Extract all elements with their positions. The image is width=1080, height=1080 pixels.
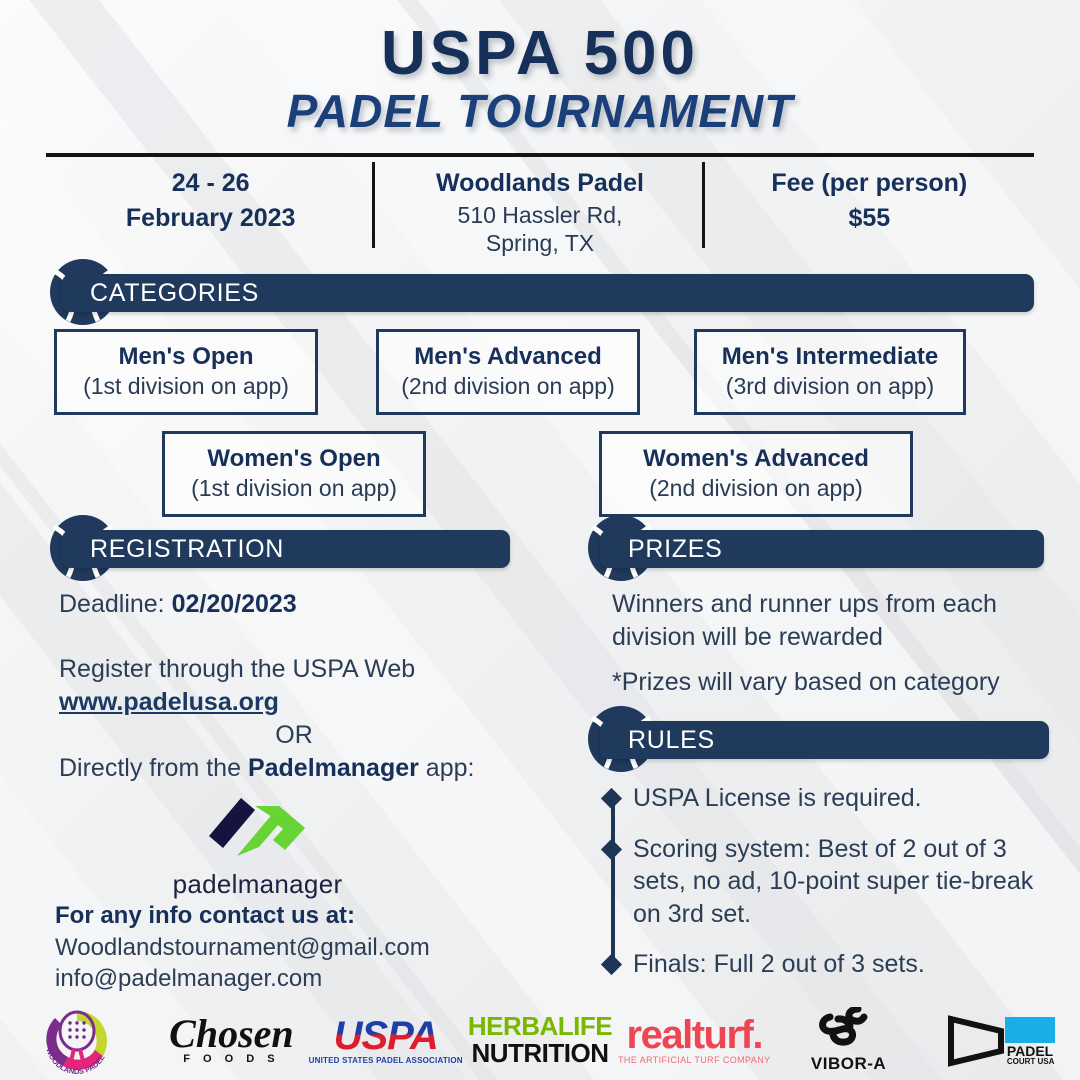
poster-header: USPA 500 PADEL TOURNAMENT [0,22,1080,136]
registration-heading: REGISTRATION [62,535,284,564]
rule-text: Scoring system: Best of 2 out of 3 sets,… [633,833,1052,931]
contact-email-2[interactable]: info@padelmanager.com [55,963,525,995]
category-card-womens-advanced[interactable]: Women's Advanced (2nd division on app) [599,431,913,517]
registration-deadline-row: Deadline: 02/20/2023 [59,588,529,621]
sponsor-logo-padel-court-usa: PADEL COURT USA [926,1000,1080,1080]
app-line-pre: Directly from the [59,754,248,782]
register-instruction: Register through the USPA Web [59,653,529,686]
venue-address-1: 510 Hassler Rd, [381,201,698,230]
category-name: Men's Intermediate [697,342,963,372]
registration-website-link[interactable]: www.padelusa.org [59,686,529,719]
herbalife-wordmark: HERBALIFE [468,1013,612,1040]
website-url: www.padelusa.org [59,688,279,716]
realturf-wordmark: realturf. [618,1015,770,1055]
contact-block: For any info contact us at: Woodlandstou… [55,900,525,995]
prizes-line-1: Winners and runner ups from each [612,588,1052,621]
padelmanager-wordmark: padelmanager [150,869,365,900]
sponsor-logo-vibor-a: VIBOR-A [771,1000,925,1080]
info-bar: 24 - 26 February 2023 Woodlands Padel 51… [46,153,1034,258]
info-bar-divider [46,153,1034,157]
rules-list: USPA License is required. Scoring system… [604,782,1052,999]
registration-body: Deadline: 02/20/2023 Register through th… [59,588,529,785]
category-name: Men's Advanced [379,342,637,372]
registration-section-header: REGISTRATION [62,530,510,568]
padel-court-usa-wordmark: PADEL [1007,1044,1055,1058]
info-col-fee: Fee (per person) $55 [705,166,1034,258]
sponsor-logo-chosen-foods: Chosen F O O D S [154,1000,308,1080]
chosen-foods-wordmark: Chosen [169,1015,294,1053]
rules-section-header: RULES [600,721,1049,759]
uspa-wordmark: USPA [309,1016,463,1056]
category-card-mens-open[interactable]: Men's Open (1st division on app) [54,329,318,415]
venue-name: Woodlands Padel [381,166,698,201]
prizes-section-header: PRIZES [600,530,1044,568]
venue-address-2: Spring, TX [381,229,698,258]
uspa-subtext: UNITED STATES PADEL ASSOCIATION [309,1056,463,1065]
rule-text: Finals: Full 2 out of 3 sets. [633,948,925,981]
realturf-subtext: THE ARTIFICIAL TURF COMPANY [618,1055,770,1065]
vibor-a-wordmark: VIBOR-A [811,1054,886,1074]
diamond-bullet-icon [601,788,622,809]
padelmanager-logo: padelmanager [150,790,365,900]
app-name: Padelmanager [248,754,419,782]
category-division: (2nd division on app) [379,372,637,402]
info-col-venue: Woodlands Padel 510 Hassler Rd, Spring, … [375,166,704,258]
rule-item: Scoring system: Best of 2 out of 3 sets,… [604,833,1052,931]
deadline-label: Deadline: [59,590,172,618]
prizes-note: *Prizes will vary based on category [612,666,1052,699]
padel-court-usa-subtext: COURT USA [1007,1058,1055,1066]
or-separator: OR [59,719,529,752]
category-card-mens-intermediate[interactable]: Men's Intermediate (3rd division on app) [694,329,966,415]
page-title: USPA 500 [0,22,1080,85]
woodlands-padel-logo-icon: WOODLANDS PADEL [38,1003,116,1077]
prizes-heading: PRIZES [600,535,723,564]
category-name: Women's Advanced [602,444,910,474]
chosen-foods-subtext: F O O D S [169,1053,294,1065]
rule-item: USPA License is required. [604,782,1052,815]
date-month-year: February 2023 [52,201,369,236]
date-range: 24 - 26 [52,166,369,201]
app-line-post: app: [419,754,475,782]
info-col-dates: 24 - 26 February 2023 [46,166,375,258]
category-division: (1st division on app) [57,372,315,402]
fee-label: Fee (per person) [711,166,1028,201]
category-division: (2nd division on app) [602,474,910,504]
diamond-bullet-icon [601,838,622,859]
page-subtitle: PADEL TOURNAMENT [0,87,1080,135]
diamond-bullet-icon [601,954,622,975]
rules-heading: RULES [600,726,715,755]
contact-heading: For any info contact us at: [55,900,525,932]
sponsor-logo-realturf: realturf. THE ARTIFICIAL TURF COMPANY [617,1000,771,1080]
prizes-body: Winners and runner ups from each divisio… [612,588,1052,699]
vibor-a-snake-icon [818,1007,880,1051]
category-name: Women's Open [165,444,423,474]
sponsor-footer: WOODLANDS PADEL Chosen F O O D S USPA UN… [0,1000,1080,1080]
categories-section-header: CATEGORIES [62,274,1034,312]
herbalife-subtext: NUTRITION [468,1040,612,1067]
category-division: (1st division on app) [165,474,423,504]
sponsor-logo-woodlands-padel: WOODLANDS PADEL [0,1000,154,1080]
padelmanager-mark-icon [193,790,323,862]
rule-item: Finals: Full 2 out of 3 sets. [604,948,1052,981]
category-card-mens-advanced[interactable]: Men's Advanced (2nd division on app) [376,329,640,415]
contact-email-1[interactable]: Woodlandstournament@gmail.com [55,932,525,964]
category-division: (3rd division on app) [697,372,963,402]
prizes-line-2: division will be rewarded [612,621,1052,654]
category-card-womens-open[interactable]: Women's Open (1st division on app) [162,431,426,517]
categories-heading: CATEGORIES [62,279,259,308]
category-name: Men's Open [57,342,315,372]
rule-text: USPA License is required. [633,782,922,815]
deadline-value: 02/20/2023 [172,590,297,618]
sponsor-logo-herbalife: HERBALIFE NUTRITION [463,1000,617,1080]
fee-amount: $55 [711,201,1028,236]
app-instruction: Directly from the Padelmanager app: [59,752,529,785]
sponsor-logo-uspa: USPA UNITED STATES PADEL ASSOCIATION [309,1000,463,1080]
